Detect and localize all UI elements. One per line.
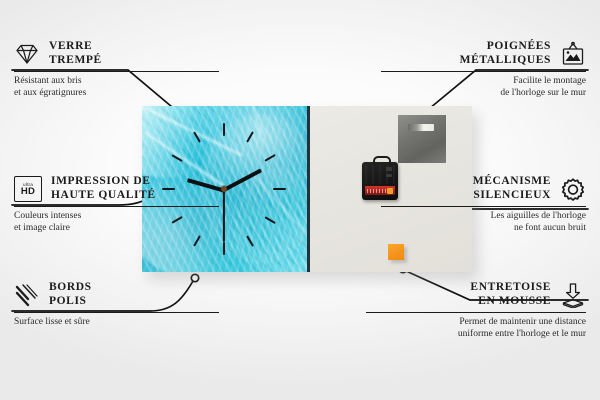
hour-marker bbox=[264, 154, 276, 162]
callout-title-line2: SILENCIEUX bbox=[473, 189, 551, 201]
hour-marker bbox=[273, 188, 286, 191]
callout-header: ENTRETOISE EN MOUSSE bbox=[366, 281, 586, 308]
callout-poignees-metalliques[interactable]: POIGNÉES MÉTALLIQUES Facilite le montage… bbox=[381, 40, 586, 99]
hour-hand bbox=[223, 169, 262, 192]
callout-title-line1: MÉCANISME bbox=[473, 175, 551, 187]
callout-title-line2: MÉTALLIQUES bbox=[460, 54, 551, 66]
callout-divider bbox=[381, 71, 586, 72]
callout-divider bbox=[14, 71, 219, 72]
callout-divider bbox=[366, 312, 586, 313]
callout-header: ultra HD IMPRESSION DE HAUTE QUALITÉ bbox=[14, 175, 219, 202]
wall-mount-frame-icon bbox=[560, 41, 586, 67]
spacer-arrow-icon bbox=[560, 282, 586, 308]
callout-title-line2: EN MOUSSE bbox=[478, 295, 551, 307]
hour-marker bbox=[246, 235, 254, 247]
callout-subtitle: Surface lisse et sûre bbox=[14, 317, 219, 329]
callout-entretoise-en-mousse[interactable]: ENTRETOISE EN MOUSSE Permet de maintenir… bbox=[366, 281, 586, 340]
hour-marker bbox=[193, 235, 201, 247]
callout-header: MÉCANISME SILENCIEUX bbox=[381, 175, 586, 202]
gear-icon bbox=[560, 176, 586, 202]
foam-spacer bbox=[388, 244, 404, 260]
callout-title-line1: POIGNÉES bbox=[487, 40, 551, 52]
hour-marker bbox=[264, 216, 276, 224]
callout-subtitle: Couleurs intenses et image claire bbox=[14, 211, 219, 234]
ultra-hd-icon-large-text: HD bbox=[21, 187, 35, 196]
callout-subtitle: Facilite le montage de l'horloge sur le … bbox=[381, 76, 586, 99]
callout-verre-trempe[interactable]: VERRE TREMPÉ Résistant aux bris et aux é… bbox=[14, 40, 219, 99]
callout-divider bbox=[14, 206, 219, 207]
metal-hanger-plate bbox=[398, 115, 446, 163]
callout-header: BORDS POLIS bbox=[14, 281, 219, 308]
diamond-icon bbox=[14, 41, 40, 67]
callout-title-line1: ENTRETOISE bbox=[470, 281, 551, 293]
hour-marker bbox=[246, 131, 254, 143]
second-hand bbox=[223, 190, 225, 242]
mechanism-detail bbox=[386, 167, 392, 171]
hour-marker bbox=[171, 154, 183, 162]
hour-marker bbox=[193, 131, 201, 143]
callout-title-line2: POLIS bbox=[49, 295, 87, 307]
callout-impression-haute-qualite[interactable]: ultra HD IMPRESSION DE HAUTE QUALITÉ Cou… bbox=[14, 175, 219, 234]
callout-mecanisme-silencieux[interactable]: MÉCANISME SILENCIEUX Les aiguilles de l'… bbox=[381, 175, 586, 234]
callout-subtitle: Permet de maintenir une distance uniform… bbox=[366, 317, 586, 340]
callout-title-line2: HAUTE QUALITÉ bbox=[51, 189, 156, 201]
hour-marker bbox=[223, 123, 225, 136]
infographic-stage: VERRE TREMPÉ Résistant aux bris et aux é… bbox=[0, 0, 600, 400]
callout-title-line1: BORDS bbox=[49, 281, 92, 293]
callout-bords-polis[interactable]: BORDS POLIS Surface lisse et sûre bbox=[14, 281, 219, 329]
ultra-hd-icon: ultra HD bbox=[14, 176, 42, 202]
callout-subtitle: Les aiguilles de l'horloge ne font aucun… bbox=[381, 211, 586, 234]
callout-header: POIGNÉES MÉTALLIQUES bbox=[381, 40, 586, 67]
callout-divider bbox=[14, 312, 219, 313]
clock-center-pin bbox=[221, 186, 227, 192]
callout-title-line1: VERRE bbox=[49, 40, 92, 52]
hour-marker bbox=[223, 242, 225, 255]
polished-edges-icon bbox=[14, 282, 40, 308]
callout-header: VERRE TREMPÉ bbox=[14, 40, 219, 67]
callout-title-line2: TREMPÉ bbox=[49, 54, 102, 66]
callout-title-line1: IMPRESSION DE bbox=[51, 175, 151, 187]
callout-subtitle: Résistant aux bris et aux égratignures bbox=[14, 76, 219, 99]
hanger-slot bbox=[408, 124, 434, 131]
callout-divider bbox=[381, 206, 586, 207]
